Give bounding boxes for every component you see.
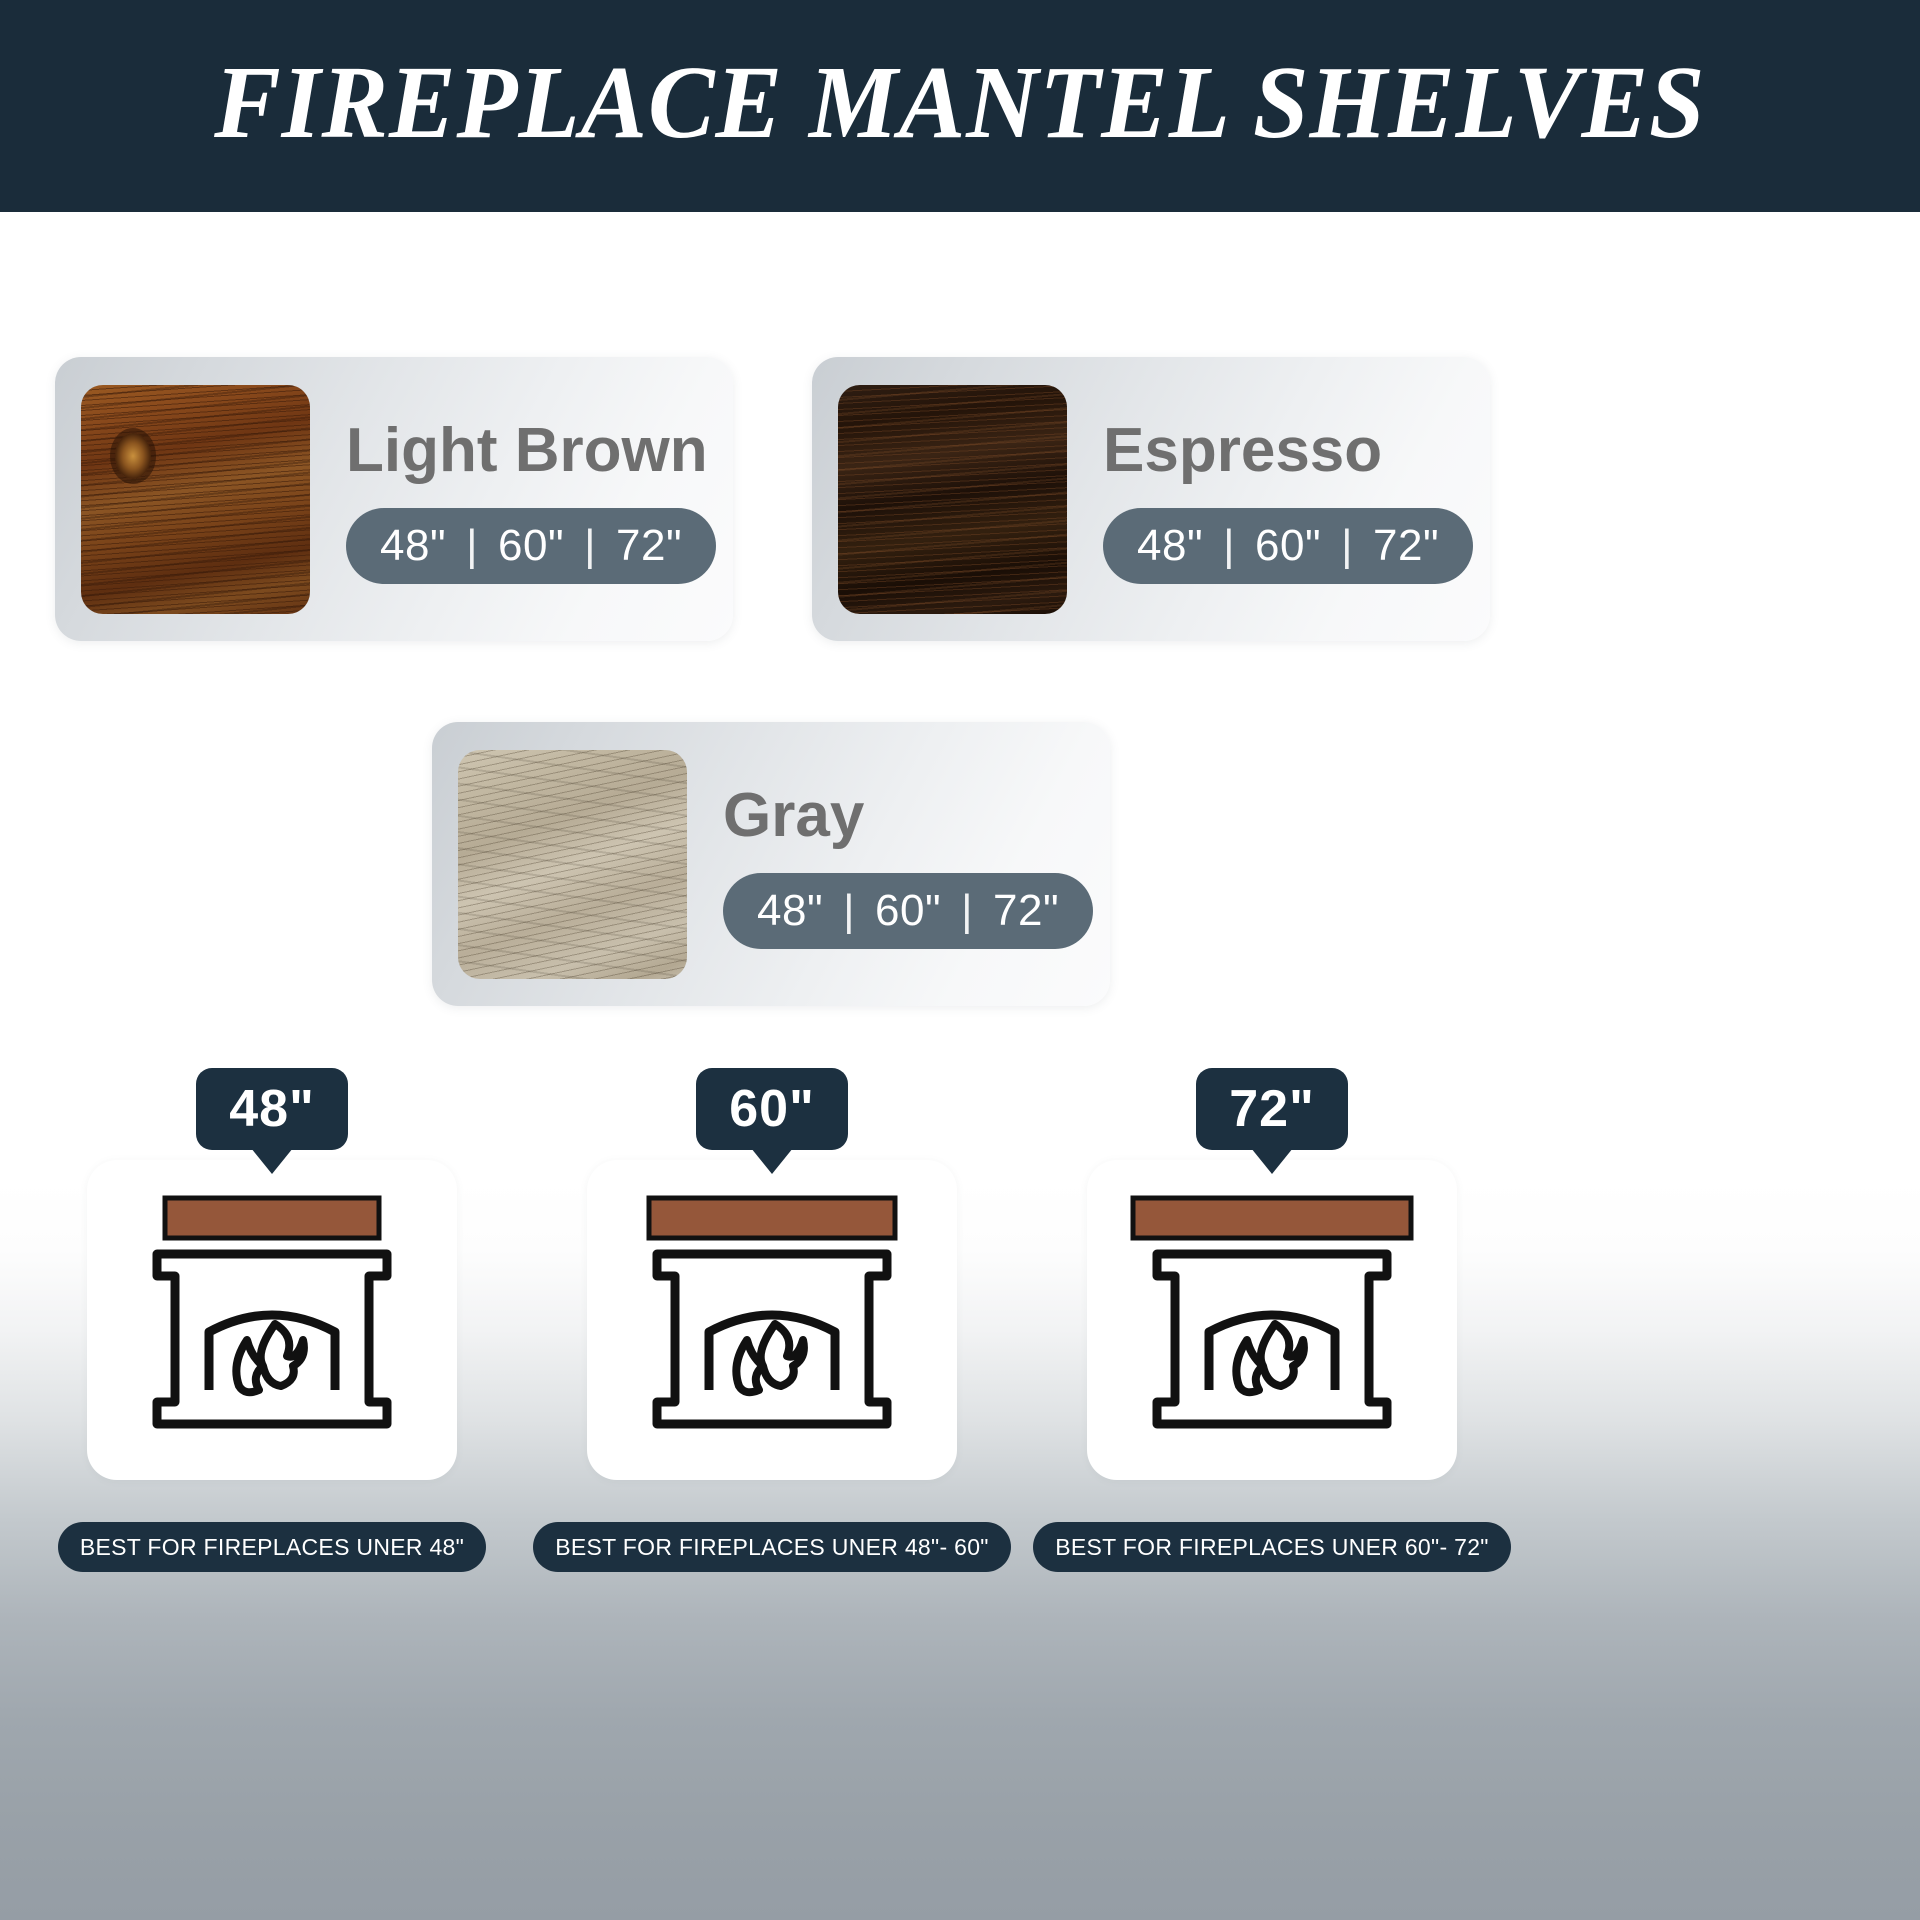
size-badge-60: 60" xyxy=(696,1068,848,1150)
size-option-72: 72" xyxy=(616,521,682,571)
fireplace-mantel-icon xyxy=(147,1190,397,1450)
size-badge-wrap: 72" xyxy=(1042,1068,1502,1150)
finish-card-light-brown[interactable]: Light Brown 48" | 60" | 72" xyxy=(55,357,733,641)
size-caption-48: BEST FOR FIREPLACES UNER 48" xyxy=(58,1522,486,1572)
size-separator: | xyxy=(564,521,616,571)
finish-name-label: Light Brown xyxy=(346,420,716,482)
size-separator: | xyxy=(446,521,498,571)
finish-name-label: Gray xyxy=(723,785,1093,847)
finish-card-gray[interactable]: Gray 48" | 60" | 72" xyxy=(432,722,1110,1006)
finish-card-body: Light Brown 48" | 60" | 72" xyxy=(310,385,734,614)
finish-card-espresso[interactable]: Espresso 48" | 60" | 72" xyxy=(812,357,1490,641)
size-badge-wrap: 60" xyxy=(542,1068,1002,1150)
size-option-60: 60" xyxy=(875,886,941,936)
size-options-pill[interactable]: 48" | 60" | 72" xyxy=(723,873,1093,949)
gray-wood-swatch xyxy=(458,750,687,979)
size-badge-72: 72" xyxy=(1196,1068,1348,1150)
size-option-72: 72" xyxy=(993,886,1059,936)
size-guide-item-48[interactable]: 48" BEST FOR FIREPLACES UNER 48" xyxy=(42,1068,502,1572)
fireplace-icon-card xyxy=(587,1160,957,1480)
size-options-pill[interactable]: 48" | 60" | 72" xyxy=(346,508,716,584)
fireplace-icon-card xyxy=(87,1160,457,1480)
light-brown-wood-swatch xyxy=(81,385,310,614)
size-caption-72: BEST FOR FIREPLACES UNER 60"- 72" xyxy=(1033,1522,1511,1572)
size-guide-item-60[interactable]: 60" BEST FOR FIREPLACES UNER 48"- 60" xyxy=(542,1068,1002,1572)
size-separator: | xyxy=(1321,521,1373,571)
espresso-wood-swatch xyxy=(838,385,1067,614)
size-option-48: 48" xyxy=(1137,521,1203,571)
fireplace-mantel-icon xyxy=(637,1190,907,1450)
size-option-60: 60" xyxy=(498,521,564,571)
infographic-page: FIREPLACE MANTEL SHELVES Light Brown 48"… xyxy=(0,0,1920,1920)
size-option-72: 72" xyxy=(1373,521,1439,571)
fireplace-mantel-icon xyxy=(1127,1190,1417,1450)
finish-card-body: Gray 48" | 60" | 72" xyxy=(687,750,1111,979)
fireplace-icon-card xyxy=(1087,1160,1457,1480)
size-option-48: 48" xyxy=(757,886,823,936)
size-badge-48: 48" xyxy=(196,1068,348,1150)
size-option-48: 48" xyxy=(380,521,446,571)
size-option-60: 60" xyxy=(1255,521,1321,571)
size-separator: | xyxy=(823,886,875,936)
size-guide-item-72[interactable]: 72" BEST FOR FIREPLACES UNER 60"- 72" xyxy=(1042,1068,1502,1572)
size-separator: | xyxy=(1203,521,1255,571)
size-options-pill[interactable]: 48" | 60" | 72" xyxy=(1103,508,1473,584)
finish-name-label: Espresso xyxy=(1103,420,1473,482)
size-separator: | xyxy=(941,886,993,936)
page-title: FIREPLACE MANTEL SHELVES xyxy=(214,51,1705,161)
size-caption-60: BEST FOR FIREPLACES UNER 48"- 60" xyxy=(533,1522,1011,1572)
finish-card-body: Espresso 48" | 60" | 72" xyxy=(1067,385,1491,614)
header-bar: FIREPLACE MANTEL SHELVES xyxy=(0,0,1920,212)
size-badge-wrap: 48" xyxy=(42,1068,502,1150)
